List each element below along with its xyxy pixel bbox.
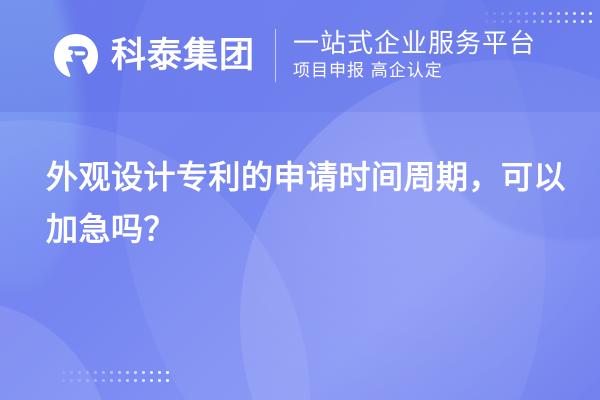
dot — [110, 379, 113, 382]
dot — [78, 371, 81, 374]
header-divider — [275, 29, 276, 82]
dot — [118, 371, 121, 374]
dot — [86, 371, 89, 374]
dot — [62, 379, 65, 382]
dot — [166, 379, 169, 382]
title-block: 外观设计专利的申请时间周期，可以加急吗？ — [46, 152, 566, 256]
dot — [102, 379, 105, 382]
dot — [150, 379, 153, 382]
dot-grid-bottom-left — [62, 371, 169, 382]
dot — [142, 379, 145, 382]
dot — [134, 379, 137, 382]
dot — [166, 371, 169, 374]
dot — [78, 379, 81, 382]
ketai-circular-logo-icon — [52, 32, 100, 80]
dot — [126, 379, 129, 382]
page-title: 外观设计专利的申请时间周期，可以加急吗？ — [46, 152, 566, 256]
dot — [158, 379, 161, 382]
dot — [134, 371, 137, 374]
dot — [86, 379, 89, 382]
dot — [102, 371, 105, 374]
banner-header: 科泰集团 一站式企业服务平台 项目申报 高企认定 — [0, 0, 600, 112]
dot — [142, 371, 145, 374]
dot — [126, 371, 129, 374]
brand-lockup[interactable]: 科泰集团 一站式企业服务平台 项目申报 高企认定 — [52, 29, 536, 83]
dot — [118, 379, 121, 382]
tagline-sub: 项目申报 高企认定 — [293, 60, 536, 83]
dot — [94, 371, 97, 374]
dot-row — [62, 379, 169, 382]
tagline-main: 一站式企业服务平台 — [293, 29, 536, 58]
tagline-block: 一站式企业服务平台 项目申报 高企认定 — [293, 29, 536, 83]
dot — [70, 379, 73, 382]
dot — [62, 371, 65, 374]
dot — [110, 371, 113, 374]
dot — [158, 371, 161, 374]
dot — [70, 371, 73, 374]
promo-banner: 科泰集团 一站式企业服务平台 项目申报 高企认定 外观设计专利的申请时间周期，可… — [0, 0, 600, 400]
dot-row — [62, 371, 169, 374]
dot — [150, 371, 153, 374]
brand-name: 科泰集团 — [111, 38, 255, 73]
dot — [94, 379, 97, 382]
